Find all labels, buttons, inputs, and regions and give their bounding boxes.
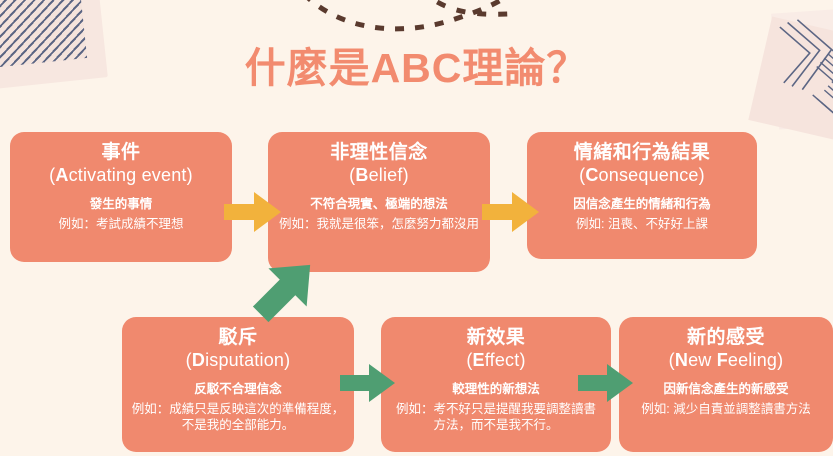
box-heading-en-initial: E <box>473 350 485 370</box>
box-heading-en: (New Feeling) <box>628 350 824 371</box>
flow-box-disputation[interactable]: 駁斥 (Disputation) 反駁不合理信念 例如：成績只是反映這次的準備程… <box>122 317 354 452</box>
arrow-right-icon-a-to-b <box>224 190 282 234</box>
arrow-right-icon-e-to-f <box>578 362 634 404</box>
box-subtitle: 因新信念產生的新感受 <box>628 381 824 397</box>
flow-box-new-feeling[interactable]: 新的感受 (New Feeling) 因新信念產生的新感受 例如: 減少自責並調… <box>619 317 833 452</box>
flow-box-effect[interactable]: 新效果 (Effect) 較理性的新想法 例如：考不好只是提醒我要調整讀書方法，… <box>381 317 611 452</box>
box-subtitle: 反駁不合理信念 <box>131 381 345 397</box>
box-heading-en-rest: elief <box>369 165 403 185</box>
arrow-right-icon-b-to-c <box>482 190 540 234</box>
box-example: 例如：考不好只是提醒我要調整讀書方法，而不是我不行。 <box>390 401 602 434</box>
page-title: 什麼是ABC理論？ <box>0 34 833 94</box>
box-heading-en-rest: onsequence <box>599 165 699 185</box>
arrow-right-icon-d-to-e <box>340 362 396 404</box>
box-heading-cn: 情緒和行為結果 <box>536 142 748 164</box>
box-heading-cn: 事件 <box>19 142 223 164</box>
box-heading-en: (Effect) <box>390 350 602 371</box>
box-heading-en-rest: ctivating event <box>69 165 187 185</box>
box-example: 例如: 減少自責並調整讀書方法 <box>628 401 824 418</box>
box-heading-en-initial: D <box>192 350 205 370</box>
box-subtitle: 較理性的新想法 <box>390 381 602 397</box>
box-heading-cn: 非理性信念 <box>277 142 481 164</box>
box-heading-en-initial-2: F <box>717 350 728 370</box>
box-heading-en-rest: isputation <box>205 350 284 370</box>
box-example: 例如: 沮喪、不好好上課 <box>536 216 748 233</box>
box-heading-en-initial: C <box>585 165 598 185</box>
box-example: 例如：我就是很笨，怎麼努力都沒用 <box>277 216 481 233</box>
box-heading-en: (Belief) <box>277 165 481 186</box>
box-heading-cn: 新的感受 <box>628 327 824 349</box>
box-heading-en-rest: ffect <box>485 350 520 370</box>
box-heading-en-initial-1: N <box>675 350 688 370</box>
box-example: 例如：成績只是反映這次的準備程度，不是我的全部能力。 <box>131 401 345 434</box>
arrow-up-right-icon-d-to-b <box>241 250 327 332</box>
box-heading-en: (Consequence) <box>536 165 748 186</box>
box-example: 例如：考試成績不理想 <box>19 216 223 233</box>
box-heading-en: (Disputation) <box>131 350 345 371</box>
box-heading-en-rest-1: ew <box>688 350 717 370</box>
box-heading-en-rest-2: eeling <box>728 350 777 370</box>
flow-box-consequence[interactable]: 情緒和行為結果 (Consequence) 因信念產生的情緒和行為 例如: 沮喪… <box>527 132 757 259</box>
box-heading-cn: 新效果 <box>390 327 602 349</box>
dashed-arc-decoration <box>302 0 512 38</box>
box-subtitle: 因信念產生的情緒和行為 <box>536 196 748 212</box>
flow-box-activating-event[interactable]: 事件 (Activating event) 發生的事情 例如：考試成績不理想 <box>10 132 232 262</box>
box-heading-en-initial: A <box>55 165 68 185</box>
box-heading-en-initial: B <box>355 165 368 185</box>
box-heading-en: (Activating event) <box>19 165 223 186</box>
box-subtitle: 發生的事情 <box>19 196 223 212</box>
box-subtitle: 不符合現實、極端的想法 <box>277 196 481 212</box>
